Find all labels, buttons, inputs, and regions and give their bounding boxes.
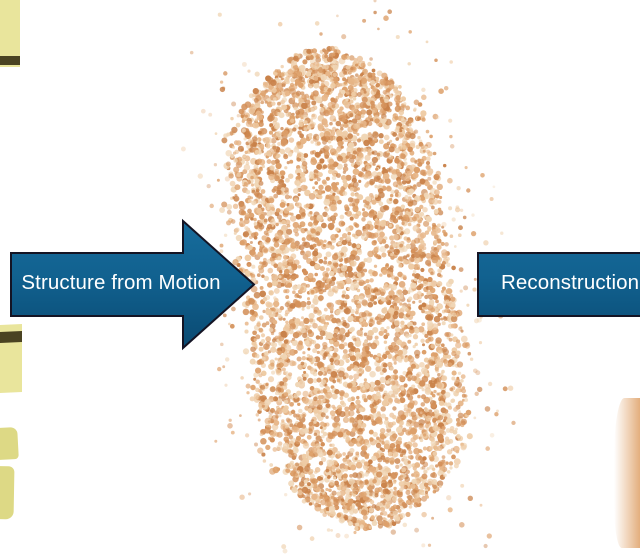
pipeline-arrow-label-reconstruction: Reconstruction — [501, 273, 640, 294]
pipeline-arrow-label-structure-from-motion: Structure from Motion — [20, 273, 222, 294]
photo-thumb-bottom — [0, 466, 14, 520]
photo-thumb-top — [0, 0, 20, 67]
slide-canvas: Structure from Motion Reconstruction — [0, 0, 640, 555]
photo-thumb-top-band — [0, 56, 20, 65]
right-edge-fragment — [614, 398, 640, 548]
photo-thumb-lower — [0, 427, 19, 461]
